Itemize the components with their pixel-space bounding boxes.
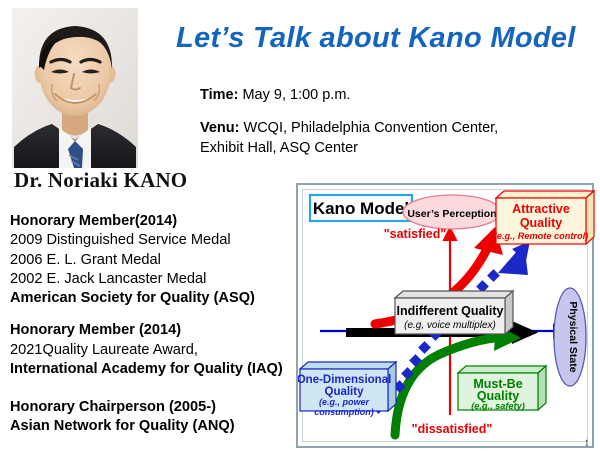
credential-block: Honorary Chairperson (2005-) Asian Netwo… [10, 398, 292, 437]
time-label: Time: [200, 87, 238, 103]
attractive-quality-name2: Quality [520, 216, 562, 230]
physical-state-label: Physical State [554, 288, 586, 386]
must-be-quality-box: Must-Be Quality (e.g., safety) [458, 366, 546, 411]
kano-model-diagram: Kano Model User’s Perception Physical St… [296, 183, 594, 448]
speaker-photo [12, 8, 138, 168]
event-time-row: Time: May 9, 1:00 p.m. [200, 86, 592, 105]
credential-line: 2021Quality Laureate Award, [10, 341, 292, 360]
event-venue-row: Venu: WCQI, Philadelphia Convention Cent… [200, 119, 592, 158]
one-dimensional-name: One-Dimensional [298, 374, 391, 386]
credential-heading: Honorary Chairperson (2005-) [10, 398, 292, 417]
venue-value-line1: WCQI, Philadelphia Convention Center, [244, 120, 499, 136]
credential-heading: Honorary Member (2014) [10, 321, 292, 340]
attractive-quality-box: Attractive Quality (e.g., Remote control… [494, 191, 594, 244]
page-title: Let’s Talk about Kano Model [176, 22, 576, 55]
one-dimensional-example2: consumption) [314, 407, 374, 417]
attractive-quality-example: (e.g., Remote control) [494, 231, 588, 241]
one-dimensional-example: (e.g., power [319, 397, 370, 407]
must-be-example: (e.g., safety) [471, 401, 525, 411]
satisfied-label: "satisfied" [384, 227, 447, 241]
indifferent-quality-example: (e.g, voice multiplex) [404, 320, 496, 331]
indifferent-quality-name: Indifferent Quality [397, 304, 504, 318]
dissatisfied-label: "dissatisfied" [412, 422, 493, 436]
venue-label: Venu: [200, 120, 239, 136]
slide-root: Dr. Noriaki KANO Honorary Member(2014) 2… [0, 0, 600, 456]
attractive-quality-name: Attractive [512, 202, 570, 216]
indifferent-quality-box: Indifferent Quality (e.g, voice multiple… [395, 291, 513, 334]
one-dimensional-quality-box: One-Dimensional Quality (e.g., power con… [298, 362, 396, 417]
kano-model-graphic: Kano Model User’s Perception Physical St… [298, 185, 596, 450]
page-number: 1 [585, 438, 590, 448]
credential-footer: International Academy for Quality (IAQ) [10, 360, 292, 379]
credential-line: 2002 E. Jack Lancaster Medal [10, 270, 292, 289]
users-perception-text: User’s Perception [407, 208, 496, 220]
diagram-title-box: Kano Model [310, 195, 412, 221]
credential-footer: American Society for Quality (ASQ) [10, 289, 292, 308]
physical-state-text: Physical State [567, 301, 579, 372]
credentials-list: Honorary Member(2014) 2009 Distinguished… [10, 212, 292, 450]
users-perception-label: User’s Perception [403, 195, 501, 229]
venue-value-line2: Exhibit Hall, ASQ Center [200, 139, 592, 158]
diagram-title-text: Kano Model [313, 199, 409, 218]
credential-footer: Asian Network for Quality (ANQ) [10, 417, 292, 436]
credential-line: 2009 Distinguished Service Medal [10, 231, 292, 250]
credential-block: Honorary Member(2014) 2009 Distinguished… [10, 212, 292, 308]
credential-line: 2006 E. L. Grant Medal [10, 251, 292, 270]
credential-heading: Honorary Member(2014) [10, 212, 292, 231]
credential-block: Honorary Member (2014) 2021Quality Laure… [10, 321, 292, 379]
event-info: Time: May 9, 1:00 p.m. Venu: WCQI, Phila… [200, 86, 592, 172]
time-value: May 9, 1:00 p.m. [242, 87, 350, 103]
